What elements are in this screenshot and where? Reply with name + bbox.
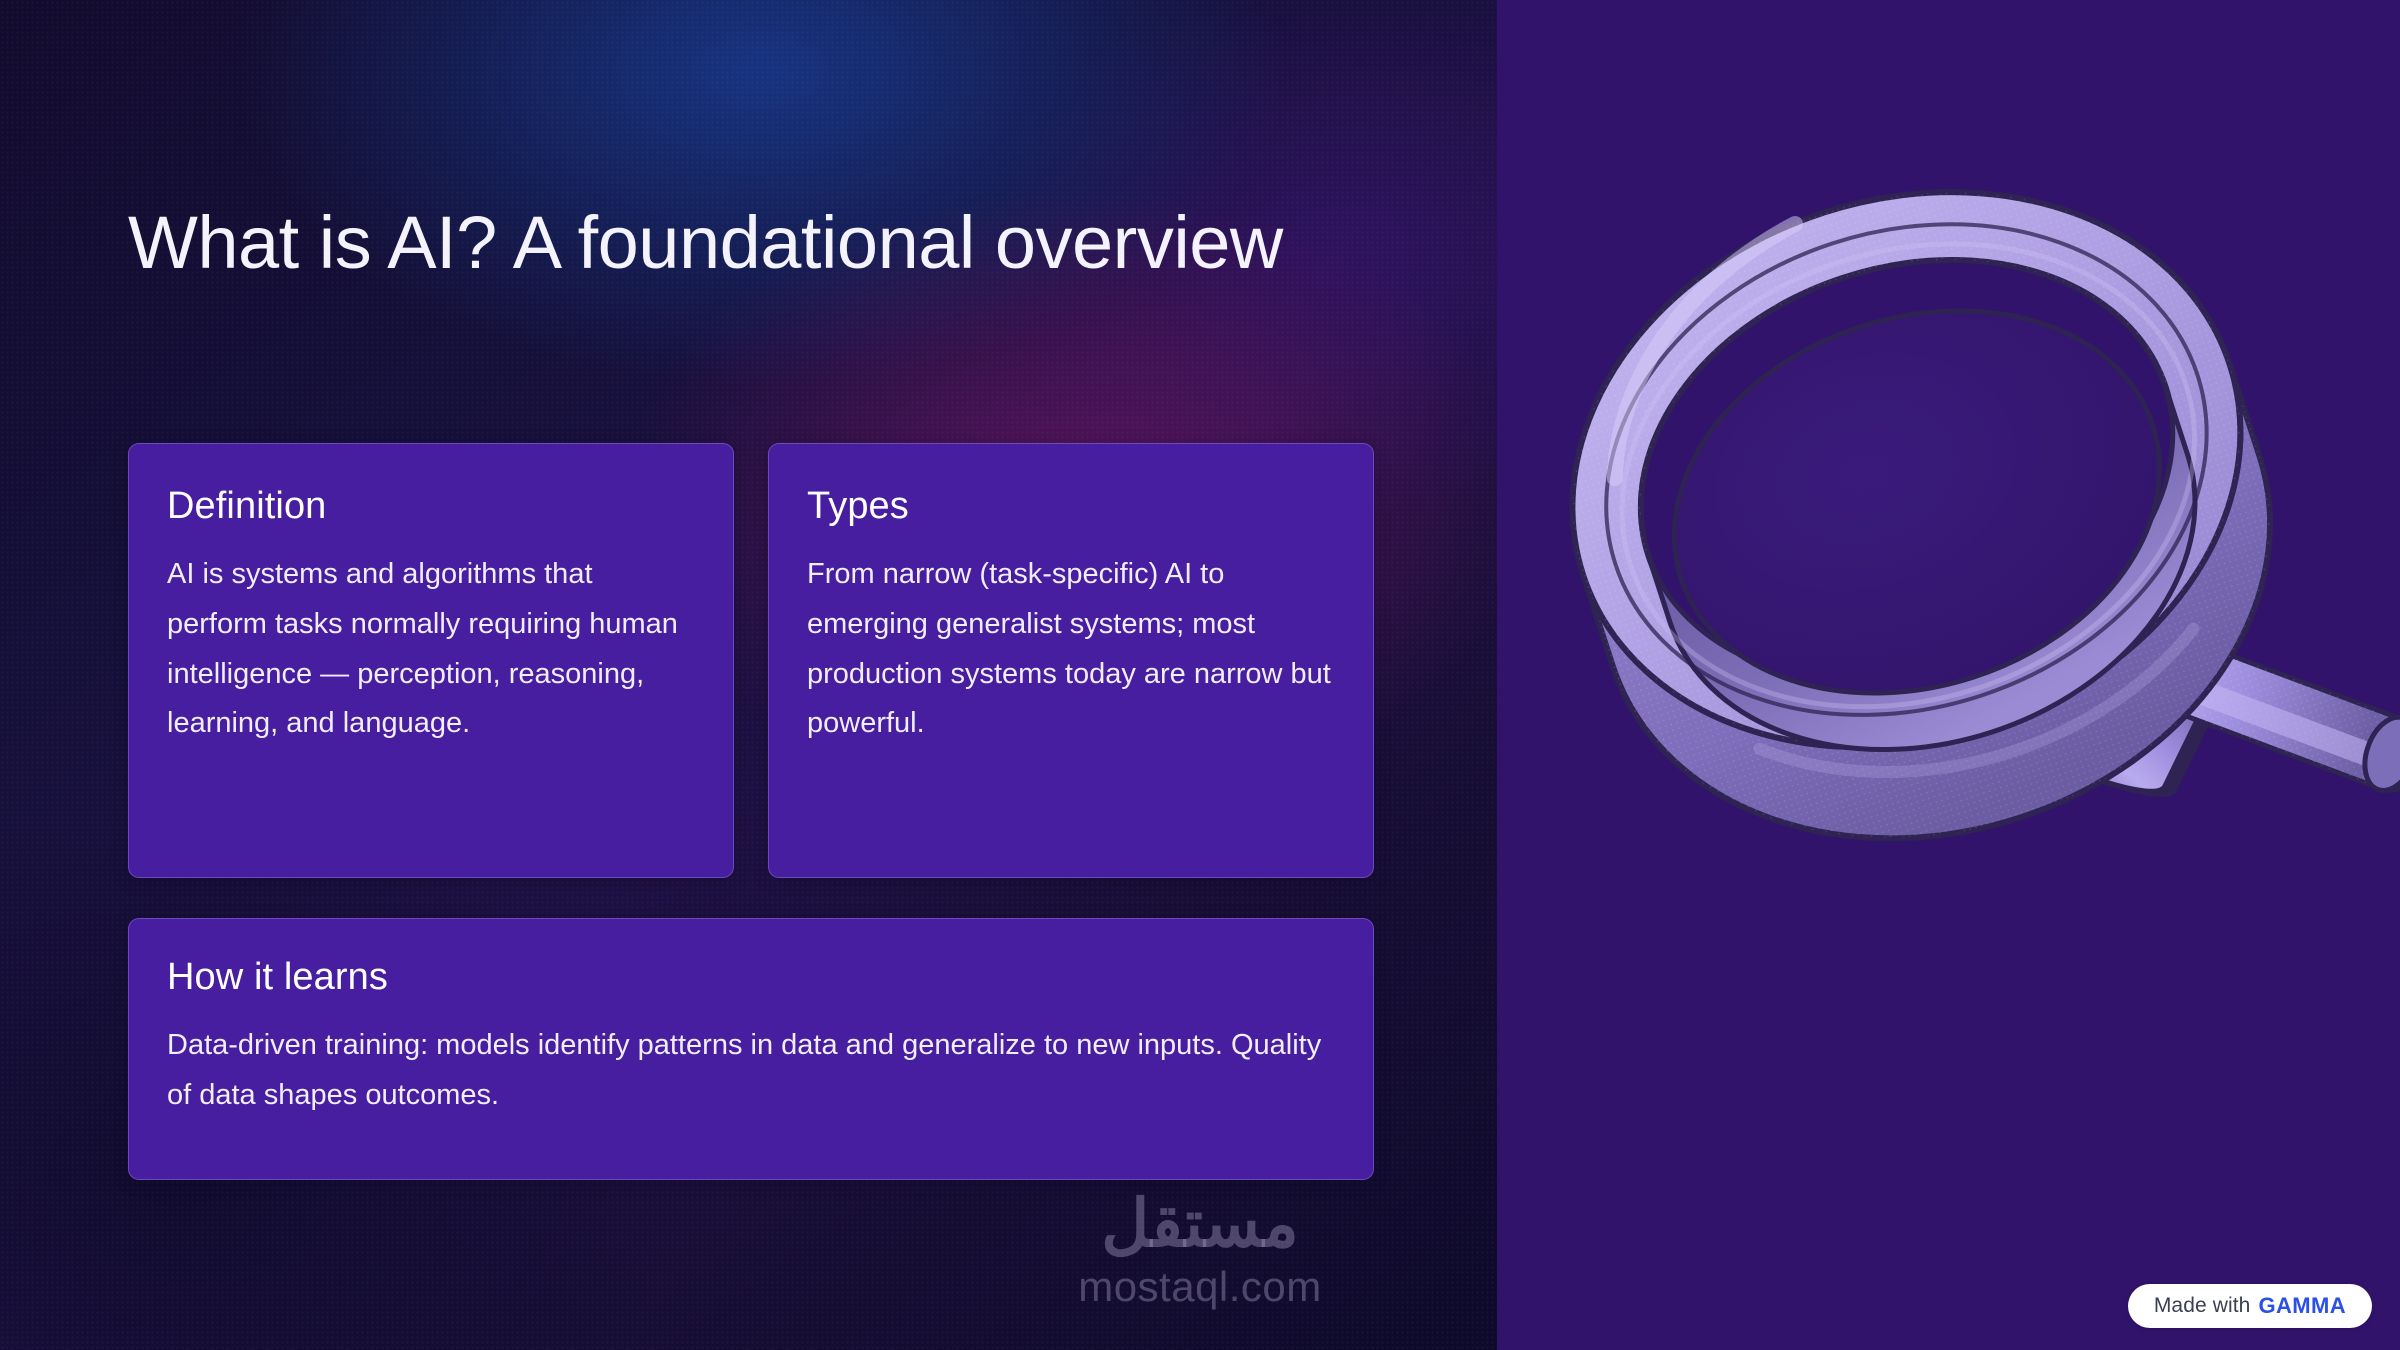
badge-made-with-label: Made with [2154,1294,2251,1318]
made-with-gamma-badge[interactable]: Made with GAMMA [2128,1284,2372,1328]
card-definition-body: AI is systems and algorithms that perfor… [167,550,695,750]
magnifying-glass-icon [1540,170,2400,1030]
card-definition[interactable]: Definition AI is systems and algorithms … [128,443,734,878]
card-how-it-learns-body: Data-driven training: models identify pa… [167,1021,1335,1121]
card-definition-inner: Definition AI is systems and algorithms … [129,444,733,749]
card-types-inner: Types From narrow (task-specific) AI to … [769,444,1373,749]
slide-root: What is AI? A foundational overview Defi… [0,0,2400,1350]
card-how-it-learns-inner: How it learns Data-driven training: mode… [129,919,1373,1121]
card-types-heading: Types [807,486,1335,528]
watermark-arabic-text: مستقل [1050,1190,1350,1256]
mostaql-watermark: مستقل mostaql.com [1050,1190,1350,1315]
card-types[interactable]: Types From narrow (task-specific) AI to … [768,443,1374,878]
page-title: What is AI? A foundational overview [128,200,1378,287]
card-how-it-learns[interactable]: How it learns Data-driven training: mode… [128,918,1374,1180]
card-types-body: From narrow (task-specific) AI to emergi… [807,550,1335,750]
card-definition-heading: Definition [167,486,695,528]
badge-gamma-brand: GAMMA [2258,1293,2346,1319]
card-how-it-learns-heading: How it learns [167,957,1335,999]
watermark-domain-text: mostaql.com [1050,1260,1350,1315]
